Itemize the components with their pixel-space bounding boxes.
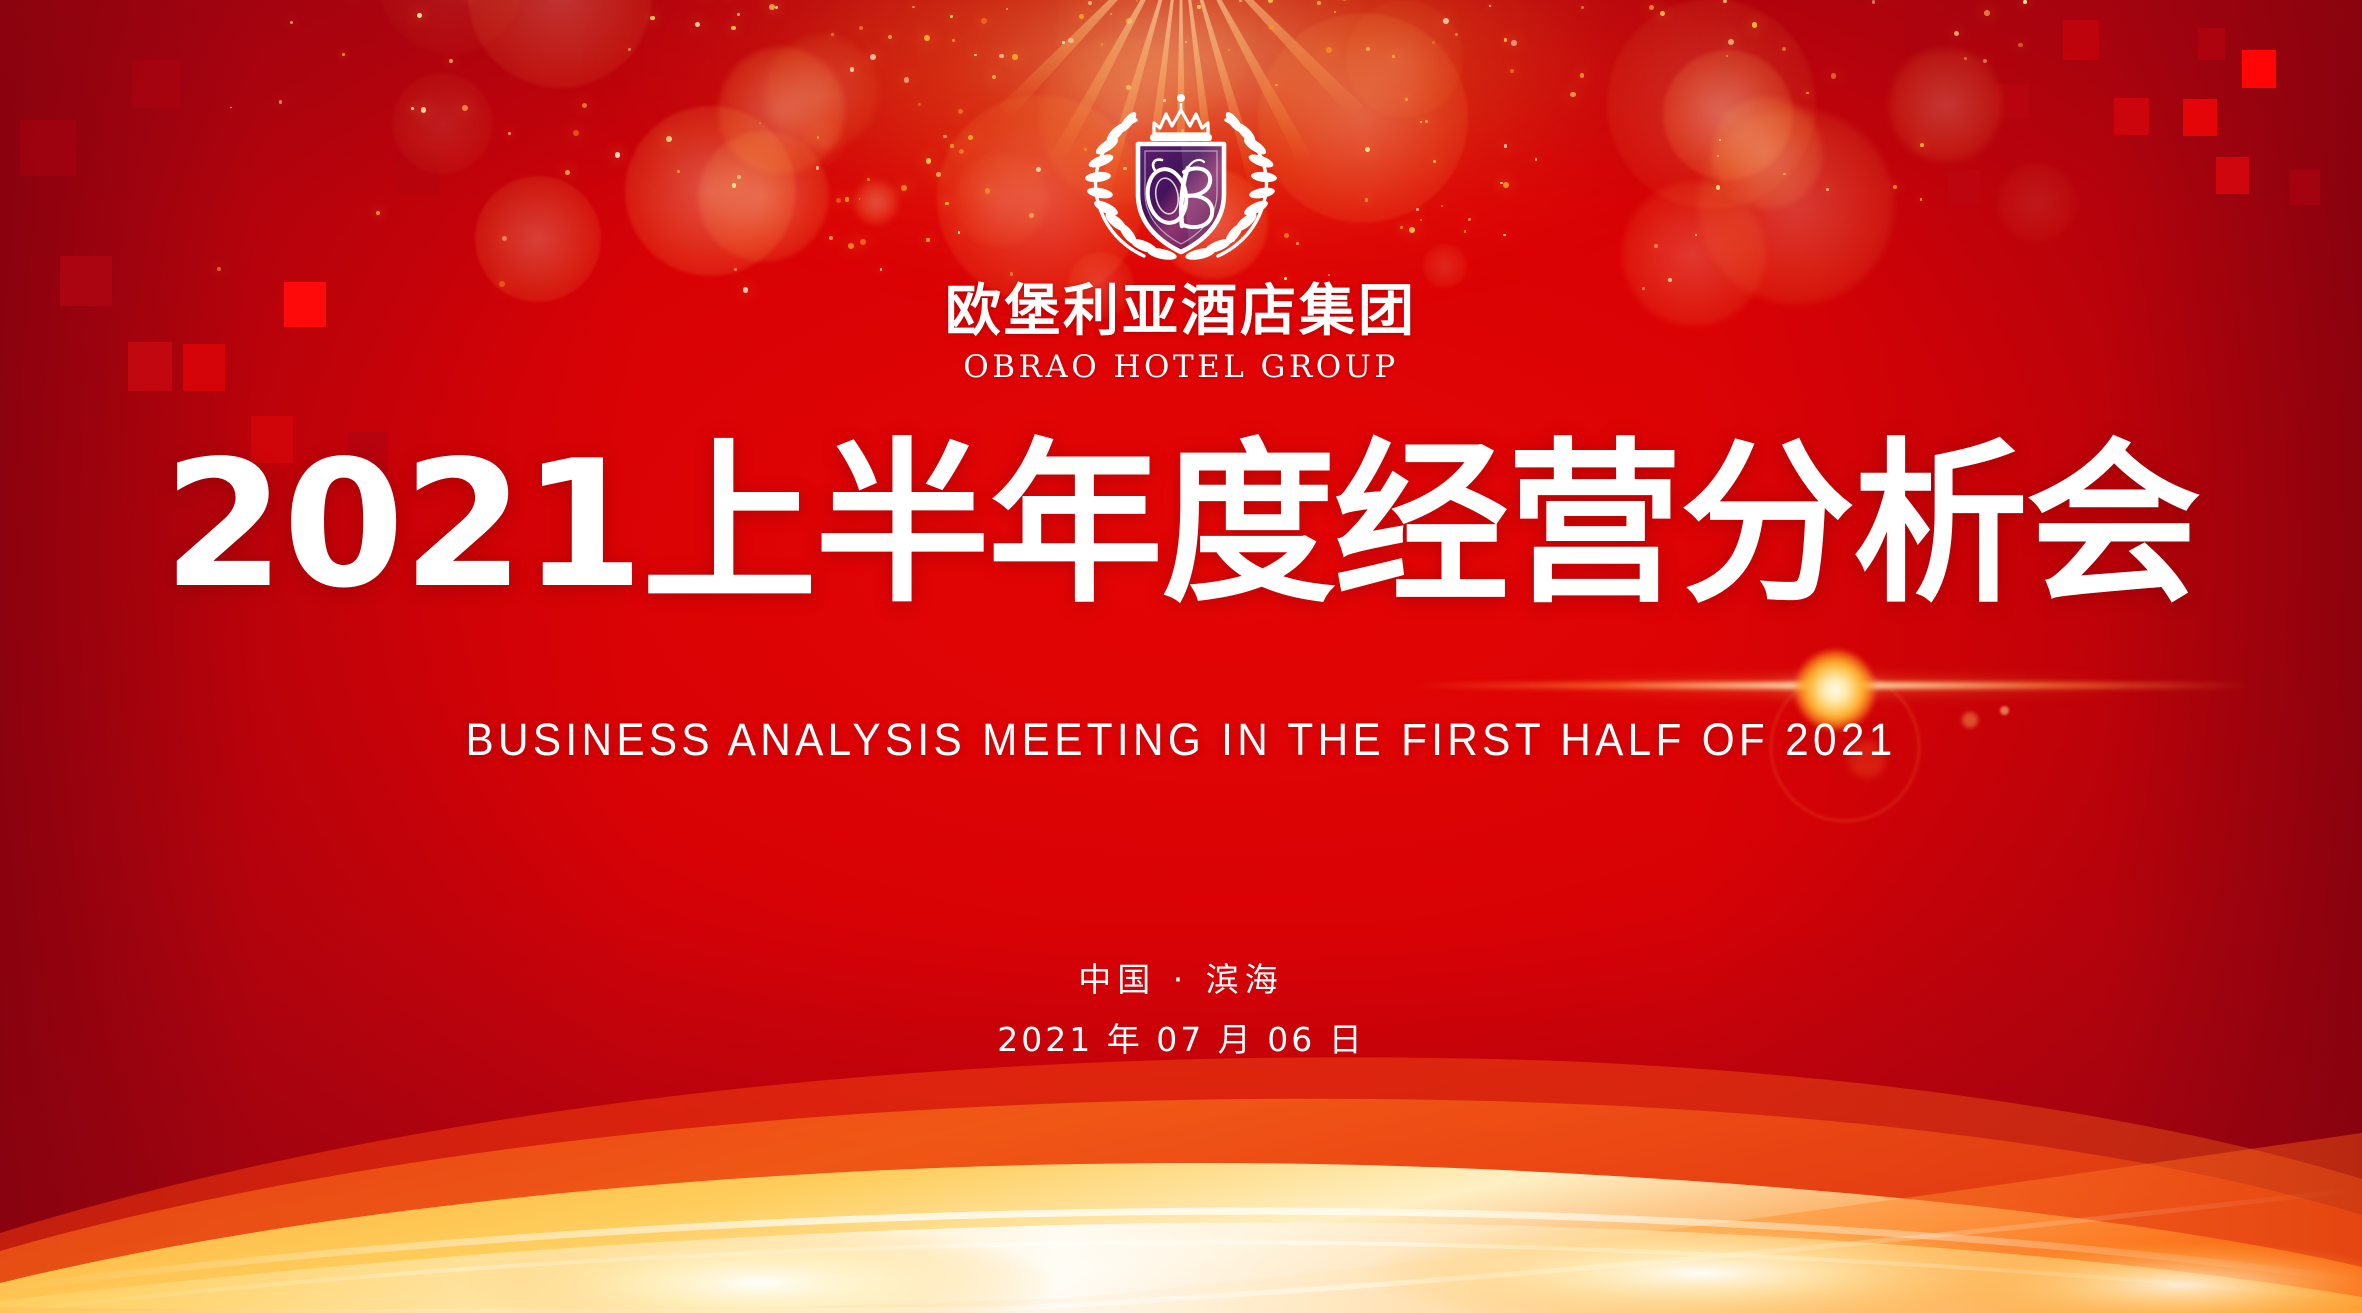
event-location: 中国 · 滨海 [0,955,2362,1005]
glitter-particle [2023,0,2027,4]
event-date: 2021 年 07 月 06 日 [0,1014,2362,1065]
poster-canvas: 欧堡利亚酒店集团 OBRAO HOTEL GROUP 2021上半年度经营分析会… [0,0,2362,1313]
glitter-particle [1511,40,1517,46]
glitter-particle [870,54,876,60]
glitter-particle [1126,18,1132,24]
footer-block: 中国 · 滨海 2021 年 07 月 06 日 [0,955,2362,1065]
glitter-particle [888,35,892,39]
glitter-particle [1185,41,1187,43]
page-subtitle: BUSINESS ANALYSIS MEETING IN THE FIRST H… [71,714,2291,766]
decorative-square [2198,28,2225,60]
glitter-particle [1012,54,1018,60]
glitter-particle [650,16,655,21]
glitter-particle [342,53,344,55]
glitter-particle [1342,0,1347,1]
glitter-particle [1723,0,1727,3]
glitter-particle [1326,47,1332,53]
decorative-square [2242,50,2276,88]
glitter-particle [1782,47,1786,51]
glitter-particle [2018,43,2022,47]
glitter-particle [737,13,740,16]
glitter-particle [1068,38,1073,43]
brand-logo-block: 欧堡利亚酒店集团 OBRAO HOTEL GROUP [0,86,2362,385]
glitter-particle [1581,6,1584,9]
crowned-shield-laurel-crest-icon [1076,86,1286,272]
glitter-particle [1831,73,1837,79]
brand-name-cn: 欧堡利亚酒店集团 [945,282,1417,341]
glitter-particle [1239,0,1241,2]
glitter-particle [1334,11,1336,13]
glitter-particle [1101,43,1103,45]
crown-icon [1150,94,1212,141]
glitter-particle [1984,10,1990,16]
glitter-particle [850,67,854,71]
glitter-particle [1510,69,1514,73]
glitter-particle [1197,5,1200,8]
brand-name-en: OBRAO HOTEL GROUP [963,349,1398,385]
glitter-particle [1728,39,1734,45]
glitter-particle [1504,38,1507,41]
page-title: 2021上半年度经营分析会 [0,438,2362,613]
glitter-particle [1964,57,1967,60]
glitter-particle [1872,0,1876,4]
decorative-square [2063,20,2099,60]
glitter-particle [974,54,977,57]
glitter-particle [1489,5,1491,7]
glitter-particle [1317,1,1321,5]
glitter-particle [1228,49,1230,51]
glitter-particle [981,18,987,24]
glitter-particle [1580,73,1585,78]
glitter-particle [904,77,909,82]
glitter-particle [1983,59,1987,63]
glitter-particle [417,13,422,18]
glitter-particle [1660,11,1665,16]
glitter-particle [924,35,930,41]
glitter-particle [1455,33,1458,36]
glitter-particle [449,59,453,63]
glitter-particle [831,33,834,36]
